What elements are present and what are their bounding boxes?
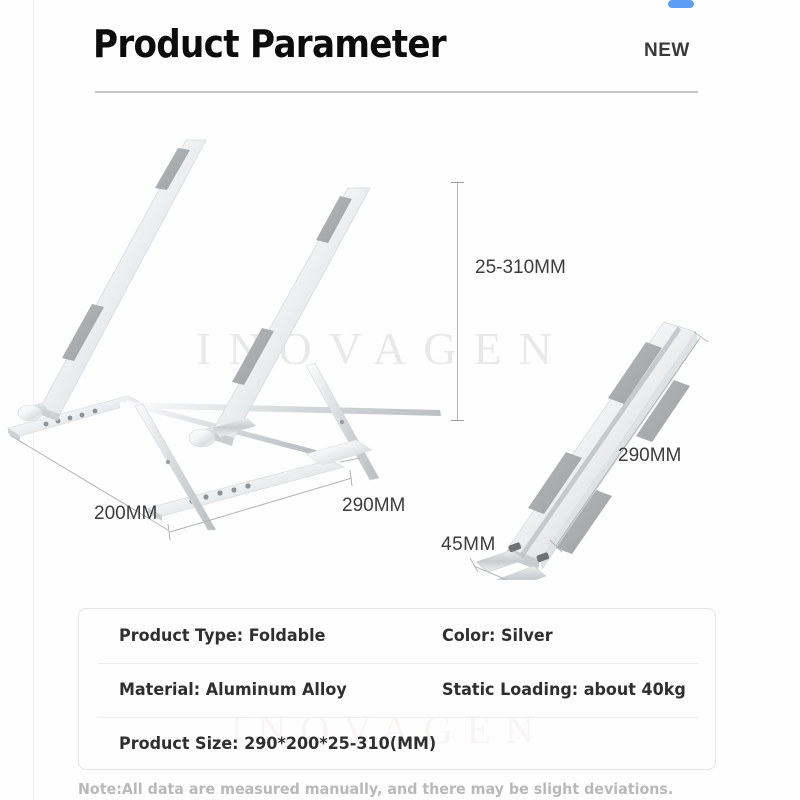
header-divider [95,91,698,93]
depth-dimension-label: 200MM [94,503,157,525]
new-badge: NEW [644,40,690,62]
blue-pill-indicator-icon [668,0,694,8]
height-dimension-bottom-tick [451,420,464,421]
spec-color: Color: Silver [442,626,553,646]
spec-static-loading: Static Loading: about 40kg [442,680,686,700]
spec-product-size: Product Size: 290*200*25-310(MM) [119,734,436,754]
product-illustration: 25-310MM 200MM 290MM 290MM 45MM [0,110,800,580]
height-dimension-top-tick [451,182,464,183]
product-parameter-page: Product Parameter NEW INOVAGEN [0,0,800,800]
front-support-strut [306,363,379,480]
rear-top-arm [18,140,206,421]
spec-table: Product Type: Foldable Color: Silver Mat… [78,608,716,770]
spec-product-type: Product Type: Foldable [119,626,325,646]
height-dimension-line [457,182,458,420]
height-dimension-label: 25-310MM [475,257,566,279]
folded-length-dimension-label: 290MM [618,445,681,467]
spec-table-row: Product Size: 290*200*25-310(MM) [79,717,715,771]
width-dimension-label: 290MM [342,495,405,517]
spec-table-row: Product Type: Foldable Color: Silver [79,609,715,663]
page-title: Product Parameter [93,22,446,66]
disclaimer-note: Note:All data are measured manually, and… [78,780,673,798]
folded-width-dimension-label: 45MM [441,534,496,556]
spec-material: Material: Aluminum Alloy [119,680,347,700]
spec-table-row: Material: Aluminum Alloy Static Loading:… [79,663,715,717]
unfolded-stand-view [8,140,441,530]
